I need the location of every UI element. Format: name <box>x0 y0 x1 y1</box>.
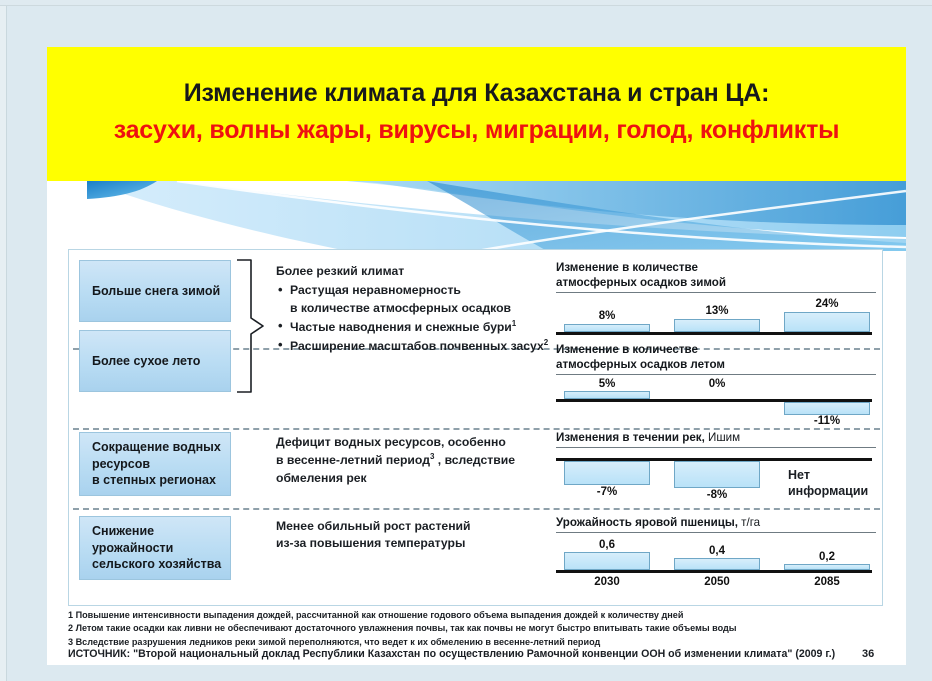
chart-plot-area: -7% -8% Нет информации <box>556 456 876 512</box>
chart-title: Изменение в количестве атмосферных осадк… <box>556 260 876 293</box>
chart-wheat-yield: Урожайность яровой пшеницы, т/га 0,6 0,4… <box>556 515 876 598</box>
chart-river-flow: Изменения в течении рек, Ишим -7% -8% Не… <box>556 430 876 512</box>
x-tick-2050: 2050 <box>674 576 760 588</box>
bar-label-2050: 0% <box>674 378 760 390</box>
no-data-line-1: Нет <box>788 468 810 482</box>
frame-left-edge <box>0 0 7 681</box>
box-label-line-1: Снижение <box>92 524 154 538</box>
footnote-ref: 1 <box>512 319 516 328</box>
baseline-axis <box>556 570 872 573</box>
chart-plot-area: 5% 0% -11% <box>556 381 876 429</box>
no-data-line-2: информации <box>788 484 868 498</box>
text-block-water-deficit: Дефицит водных ресурсов, особенно в весе… <box>276 434 576 487</box>
bar-2085 <box>784 312 870 332</box>
text-header: Более резкий климат <box>276 263 566 280</box>
x-tick-2030: 2030 <box>564 576 650 588</box>
box-label-line-2: ресурсов <box>92 457 150 471</box>
bar-label-2030: 8% <box>564 310 650 322</box>
box-drier-summer[interactable]: Более сухое лето <box>79 330 231 392</box>
chart-title-thin: Ишим <box>705 431 740 444</box>
chart-title-line-2: атмосферных осадков зимой <box>556 276 726 289</box>
slide-page: Изменение климата для Казахстана и стран… <box>0 0 932 681</box>
decorative-swoosh-band <box>47 181 906 251</box>
box-label-multiline: Снижение урожайности сельского хозяйства <box>92 523 221 574</box>
text-line-2a: в весенне-летний период <box>276 453 430 467</box>
chart-title-bold: Изменения в течении рек, <box>556 431 705 444</box>
chart-title: Урожайность яровой пшеницы, т/га <box>556 515 876 533</box>
bullet-list: Растущая неравномерность в количестве ат… <box>276 282 566 355</box>
box-yield-decline[interactable]: Снижение урожайности сельского хозяйства <box>79 516 231 580</box>
bar-2030 <box>564 391 650 399</box>
footnotes-block: 1 Повышение интенсивности выпадения дожд… <box>68 609 908 649</box>
bullet-item: Частые наводнения и снежные бури1 <box>276 318 566 336</box>
bullet-item: Расширение масштабов почвенных засух2 <box>276 337 566 355</box>
chart-title-line-1: Изменение в количестве <box>556 343 698 356</box>
box-label-multiline: Сокращение водных ресурсов в степных рег… <box>92 439 221 490</box>
chart-title-line-1: Изменение в количестве <box>556 261 698 274</box>
bracket-connector <box>235 258 269 399</box>
bar-label-2085: -11% <box>784 415 870 427</box>
bar-2085 <box>784 564 870 570</box>
footnote-2: 2 Летом такие осадки как ливни не обеспе… <box>68 622 908 635</box>
bar-2085 <box>784 402 870 415</box>
bar-label-2085: 0,2 <box>784 551 870 563</box>
bar-label-2050: 13% <box>674 305 760 317</box>
box-label: Более сухое лето <box>92 353 200 370</box>
chart-plot-area: 0,6 0,4 0,2 2030 2050 2085 <box>556 540 876 598</box>
bar-2050 <box>674 319 760 332</box>
frame-top-edge <box>0 0 932 6</box>
bar-2050 <box>674 558 760 570</box>
title-banner: Изменение климата для Казахстана и стран… <box>47 47 906 181</box>
page-number: 36 <box>862 648 874 660</box>
chart-summer-precipitation: Изменение в количестве атмосферных осадк… <box>556 342 876 429</box>
text-block-plant-growth: Менее обильный рост растений из-за повыш… <box>276 518 576 553</box>
chart-title-line-2: атмосферных осадков летом <box>556 358 725 371</box>
footnote-1: 1 Повышение интенсивности выпадения дожд… <box>68 609 908 622</box>
title-line-1: Изменение климата для Казахстана и стран… <box>184 78 770 109</box>
bar-label-2030: 0,6 <box>564 539 650 551</box>
bullet-line-2: в количестве атмосферных осадков <box>290 301 511 315</box>
bar-label-2050: -8% <box>674 489 760 501</box>
box-label: Больше снега зимой <box>92 283 220 300</box>
chart-title: Изменения в течении рек, Ишим <box>556 430 876 448</box>
bar-2030 <box>564 324 650 332</box>
footnote-3: 3 Вследствие разрушения ледников реки зи… <box>68 636 908 649</box>
box-label-line-3: в степных регионах <box>92 473 216 487</box>
chart-title-bold: Урожайность яровой пшеницы, <box>556 516 738 529</box>
title-line-2: засухи, волны жары, вирусы, миграции, го… <box>114 115 840 146</box>
bar-2030 <box>564 552 650 570</box>
bar-2050 <box>674 461 760 488</box>
bullet-line-1: Растущая неравномерность <box>290 283 461 297</box>
bullet-item: Растущая неравномерность в количестве ат… <box>276 282 566 317</box>
bar-label-2085: 24% <box>784 298 870 310</box>
source-line: ИСТОЧНИК: "Второй национальный доклад Ре… <box>68 648 858 660</box>
x-tick-2085: 2085 <box>784 576 870 588</box>
content-panel: Больше снега зимой Более сухое лето Сокр… <box>68 249 883 606</box>
bar-2030 <box>564 461 650 485</box>
box-water-reduction[interactable]: Сокращение водных ресурсов в степных рег… <box>79 432 231 496</box>
box-label-line-1: Сокращение водных <box>92 440 221 454</box>
chart-plot-area: 8% 13% 24% <box>556 299 876 341</box>
text-line-1: Дефицит водных ресурсов, особенно <box>276 434 576 451</box>
box-more-snow-winter[interactable]: Больше снега зимой <box>79 260 231 322</box>
bar-label-2030: 5% <box>564 378 650 390</box>
text-line-1: Менее обильный рост растений <box>276 518 576 535</box>
baseline-axis <box>556 332 872 335</box>
footnote-ref: 2 <box>544 338 548 347</box>
chart-title: Изменение в количестве атмосферных осадк… <box>556 342 876 375</box>
chart-winter-precipitation: Изменение в количестве атмосферных осадк… <box>556 260 876 341</box>
no-data-label: Нет информации <box>788 468 878 499</box>
bullet-text: Частые наводнения и снежные бури <box>290 320 512 334</box>
box-label-line-2: урожайности <box>92 541 173 555</box>
chart-title-thin: т/га <box>738 516 760 529</box>
box-label-line-3: сельского хозяйства <box>92 557 221 571</box>
bar-label-2030: -7% <box>564 486 650 498</box>
bullet-text: Расширение масштабов почвенных засух <box>290 339 544 353</box>
text-block-harsher-climate: Более резкий климат Растущая неравномерн… <box>276 263 566 356</box>
text-line-2: из-за повышения температуры <box>276 535 576 552</box>
text-line-3: обмеления рек <box>276 470 576 487</box>
text-line-2: в весенне-летний период3 , вследствие <box>276 451 576 469</box>
bar-label-2050: 0,4 <box>674 545 760 557</box>
text-line-2b: , вследствие <box>434 453 515 467</box>
